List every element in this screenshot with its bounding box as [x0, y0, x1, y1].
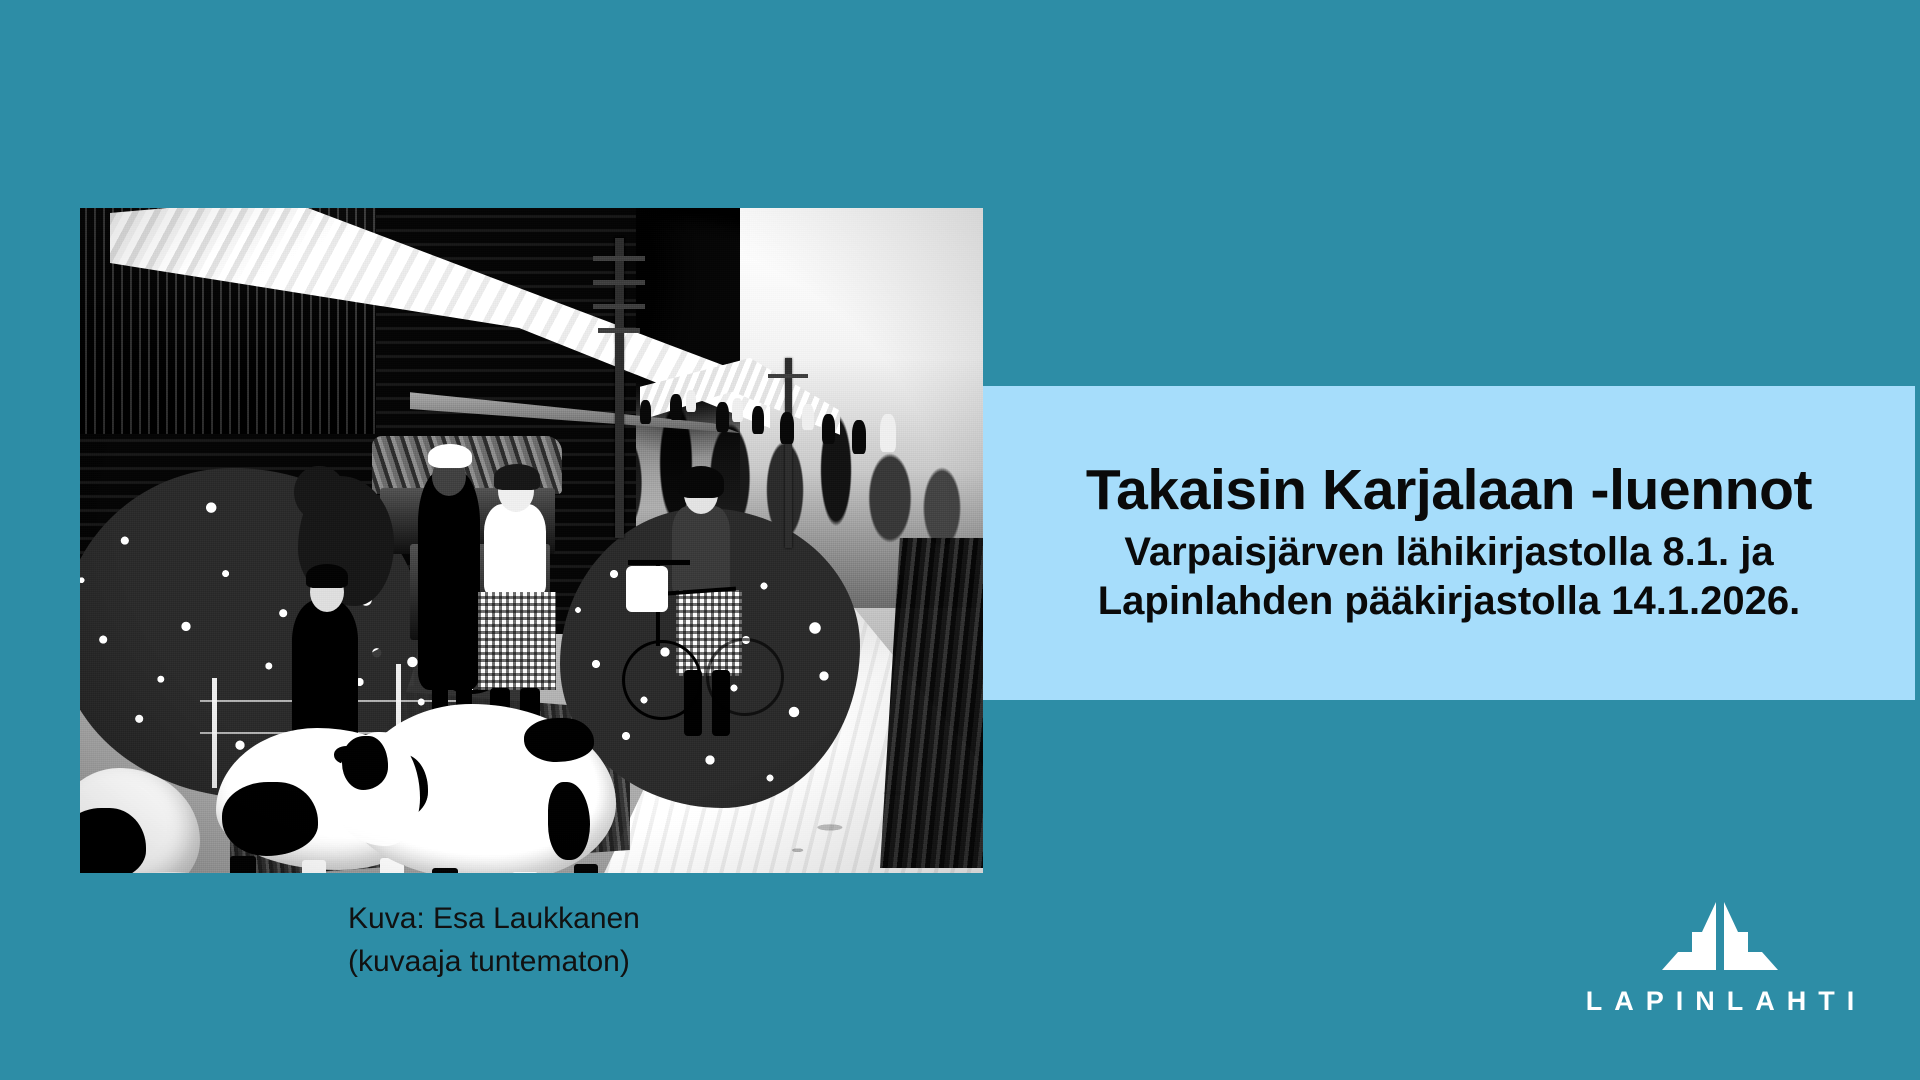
historic-photo: [80, 208, 983, 873]
photo-cow-patch: [548, 782, 590, 860]
photo-cow-leg: [512, 872, 538, 873]
photo-bicycle-wheel: [622, 640, 702, 720]
photo-pole-crossarm: [593, 280, 645, 285]
photo-credit-line-1: Kuva: Esa Laukkanen: [348, 898, 868, 941]
photo-distant-person: [670, 394, 682, 420]
lapinlahti-mountain-logo-icon: [1660, 900, 1780, 972]
photo-cow-patch: [80, 808, 146, 873]
photo-horse-head: [294, 466, 346, 522]
photo-cow-patch: [524, 718, 594, 762]
photo-woman-blouse: [484, 504, 546, 596]
photo-credit-caption: Kuva: Esa Laukkanen (kuvaaja tuntematon): [348, 898, 868, 983]
photo-distant-person: [716, 402, 729, 432]
photo-woman-hair: [494, 464, 540, 490]
photo-pole-crossarm: [593, 256, 645, 261]
photo-pole-crossarm: [593, 304, 645, 309]
photo-distant-person: [640, 400, 651, 424]
photo-cyclist-torso: [672, 506, 730, 596]
photo-distant-person: [802, 404, 814, 430]
event-subtitle-line-2: Lapinlahden pääkirjastolla 14.1.2026.: [1098, 577, 1801, 626]
photo-bicycle-wheel: [706, 638, 784, 716]
photo-distant-person: [780, 412, 794, 444]
photo-bicycle-handlebar: [628, 560, 690, 565]
photo-cyclist-hair: [678, 466, 724, 498]
lapinlahti-wordmark: LAPINLAHTI: [1570, 988, 1870, 1015]
photo-man-with-cap: [418, 470, 480, 690]
photo-credit-line-2: (kuvaaja tuntematon): [348, 941, 868, 984]
photo-woman-checked-skirt: [478, 592, 556, 690]
photo-distant-person: [880, 414, 896, 452]
lapinlahti-logo: LAPINLAHTI: [1570, 900, 1870, 1040]
event-subtitle-line-1: Varpaisjärven lähikirjastolla 8.1. ja: [1124, 528, 1773, 577]
photo-cow-leg: [574, 864, 598, 873]
event-title: Takaisin Karjalaan -luennot: [1086, 460, 1812, 520]
photo-cow-patch: [222, 782, 318, 856]
photo-cow-leg: [302, 860, 326, 873]
photo-distant-person: [852, 420, 866, 454]
photo-pole-crossarm: [598, 328, 640, 333]
event-text-panel: Takaisin Karjalaan -luennot Varpaisjärve…: [983, 386, 1915, 700]
photo-woman-coat-hair: [306, 564, 348, 588]
slide-canvas: Takaisin Karjalaan -luennot Varpaisjärve…: [0, 0, 1920, 1080]
photo-bicycle-bundle: [626, 566, 668, 612]
photo-utility-pole-far: [785, 358, 792, 548]
photo-white-cap-icon: [428, 444, 472, 468]
photo-cow-leg: [230, 856, 256, 873]
photo-distant-person: [732, 398, 743, 422]
photo-distant-person: [686, 390, 696, 412]
photo-distant-person: [752, 406, 764, 434]
photo-pole-crossarm: [768, 374, 808, 378]
photo-cow-leg: [432, 868, 458, 873]
photo-distant-person: [822, 414, 835, 444]
photo-cow-head-patch: [342, 736, 388, 790]
